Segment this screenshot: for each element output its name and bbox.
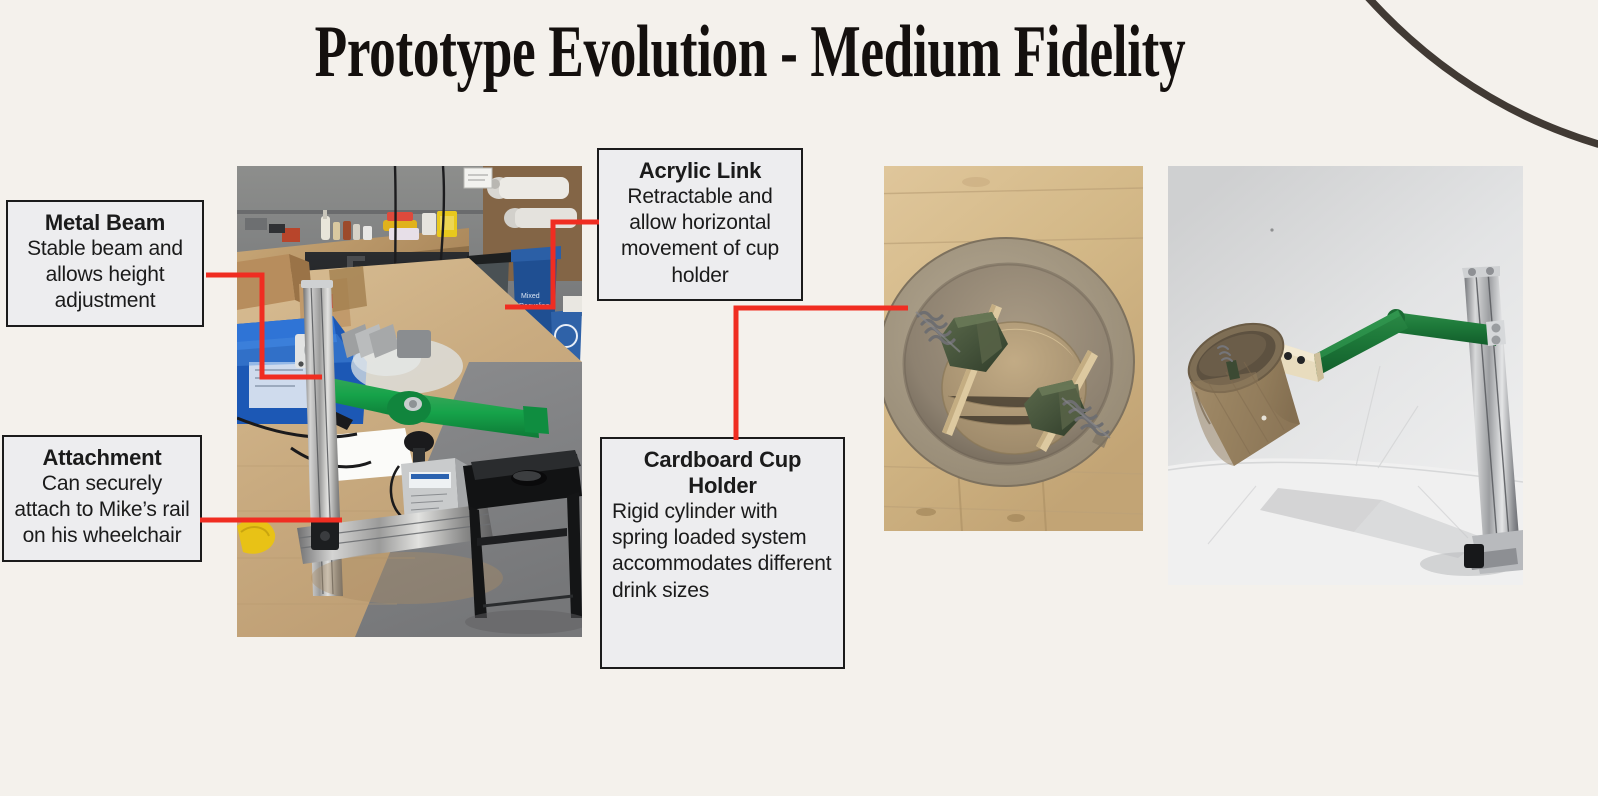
decorative-swoosh-icon	[1330, 0, 1598, 176]
callout-cardboard-cup-holder-title: Cardboard Cup Holder	[612, 447, 833, 499]
callout-acrylic-link[interactable]: Acrylic Link Retractable and allow horiz…	[597, 148, 803, 301]
callout-acrylic-link-body: Retractable and allow horizontal movemen…	[609, 184, 791, 289]
photo-cup-holder-interior	[866, 166, 1143, 531]
svg-text:Mixed: Mixed	[521, 293, 540, 300]
callout-cardboard-cup-holder[interactable]: Cardboard Cup Holder Rigid cylinder with…	[600, 437, 845, 669]
callout-acrylic-link-title: Acrylic Link	[609, 158, 791, 184]
callout-attachment[interactable]: Attachment Can securely attach to Mike’s…	[2, 435, 202, 562]
photo-full-assembly	[1168, 166, 1523, 585]
callout-metal-beam-title: Metal Beam	[18, 210, 192, 236]
page-title: Prototype Evolution - Medium Fidelity	[210, 14, 1290, 92]
photo-workshop-prototype: Mixed Recycling	[237, 166, 582, 637]
callout-metal-beam[interactable]: Metal Beam Stable beam and allows height…	[6, 200, 204, 327]
callout-metal-beam-body: Stable beam and allows height adjustment	[18, 236, 192, 315]
callout-attachment-title: Attachment	[14, 445, 190, 471]
callout-cardboard-cup-holder-body: Rigid cylinder with spring loaded system…	[612, 499, 833, 604]
slide-canvas: Prototype Evolution - Medium Fidelity	[0, 0, 1598, 796]
callout-attachment-body: Can securely attach to Mike’s rail on hi…	[14, 471, 190, 550]
